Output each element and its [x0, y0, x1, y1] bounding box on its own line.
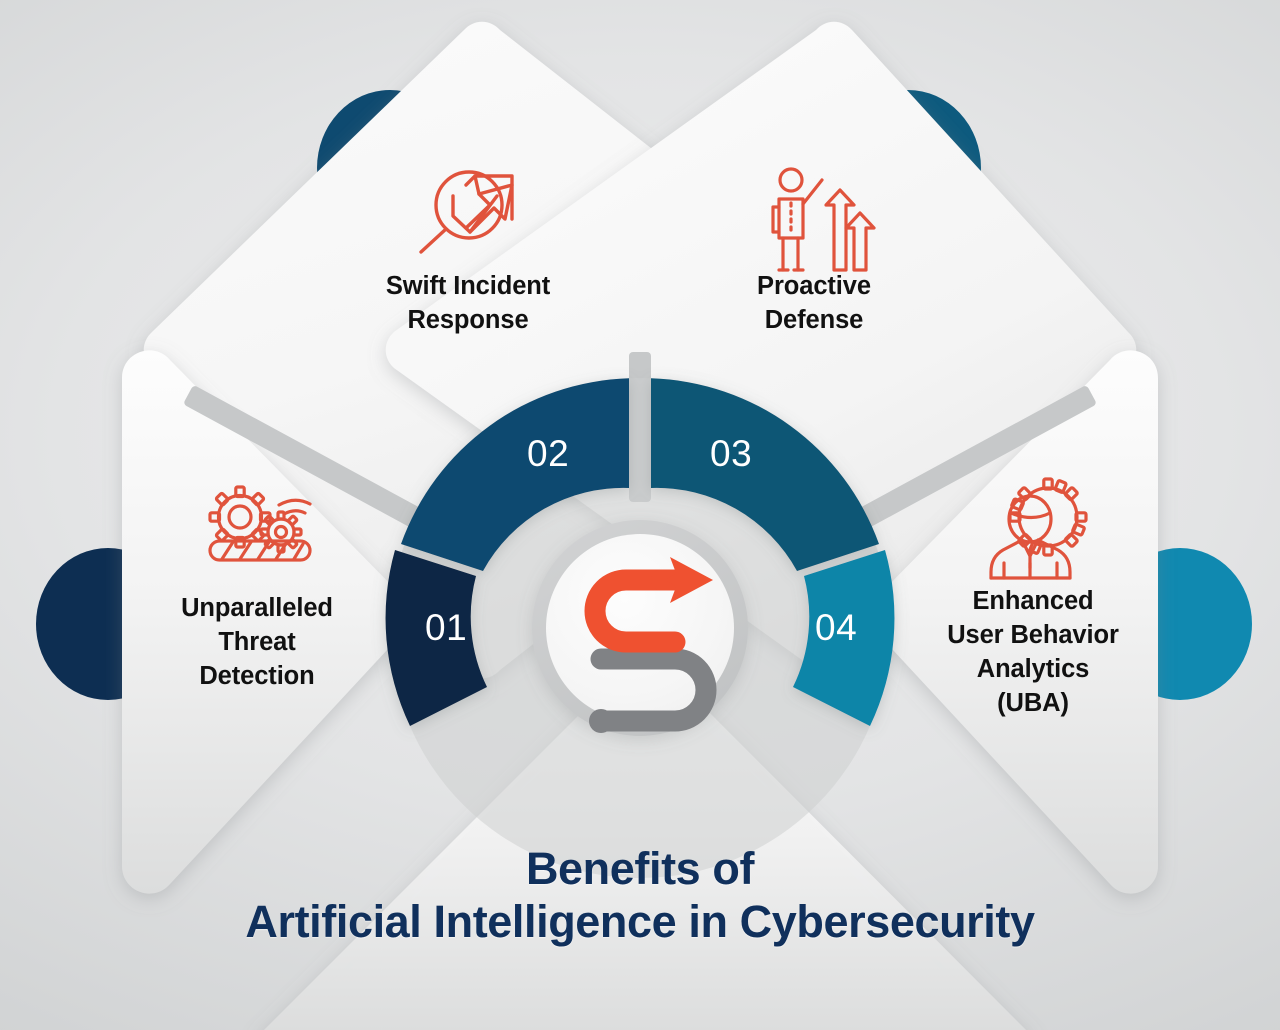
- segment-number-04[interactable]: 04: [815, 607, 857, 649]
- segment-number-03[interactable]: 03: [710, 433, 752, 475]
- page-title: Benefits of Artificial Intelligence in C…: [0, 842, 1280, 948]
- segment-label-01[interactable]: Unparalleled Threat Detection: [152, 592, 362, 694]
- segment-label-04[interactable]: Enhanced User Behavior Analytics (UBA): [928, 585, 1138, 721]
- segment-label-02[interactable]: Swift Incident Response: [363, 270, 573, 338]
- segment-number-01[interactable]: 01: [425, 607, 467, 649]
- infographic-canvas: Unparalleled Threat Detection Swift Inci…: [0, 0, 1280, 1030]
- segment-number-02[interactable]: 02: [527, 433, 569, 475]
- segment-label-03[interactable]: Proactive Defense: [712, 270, 916, 338]
